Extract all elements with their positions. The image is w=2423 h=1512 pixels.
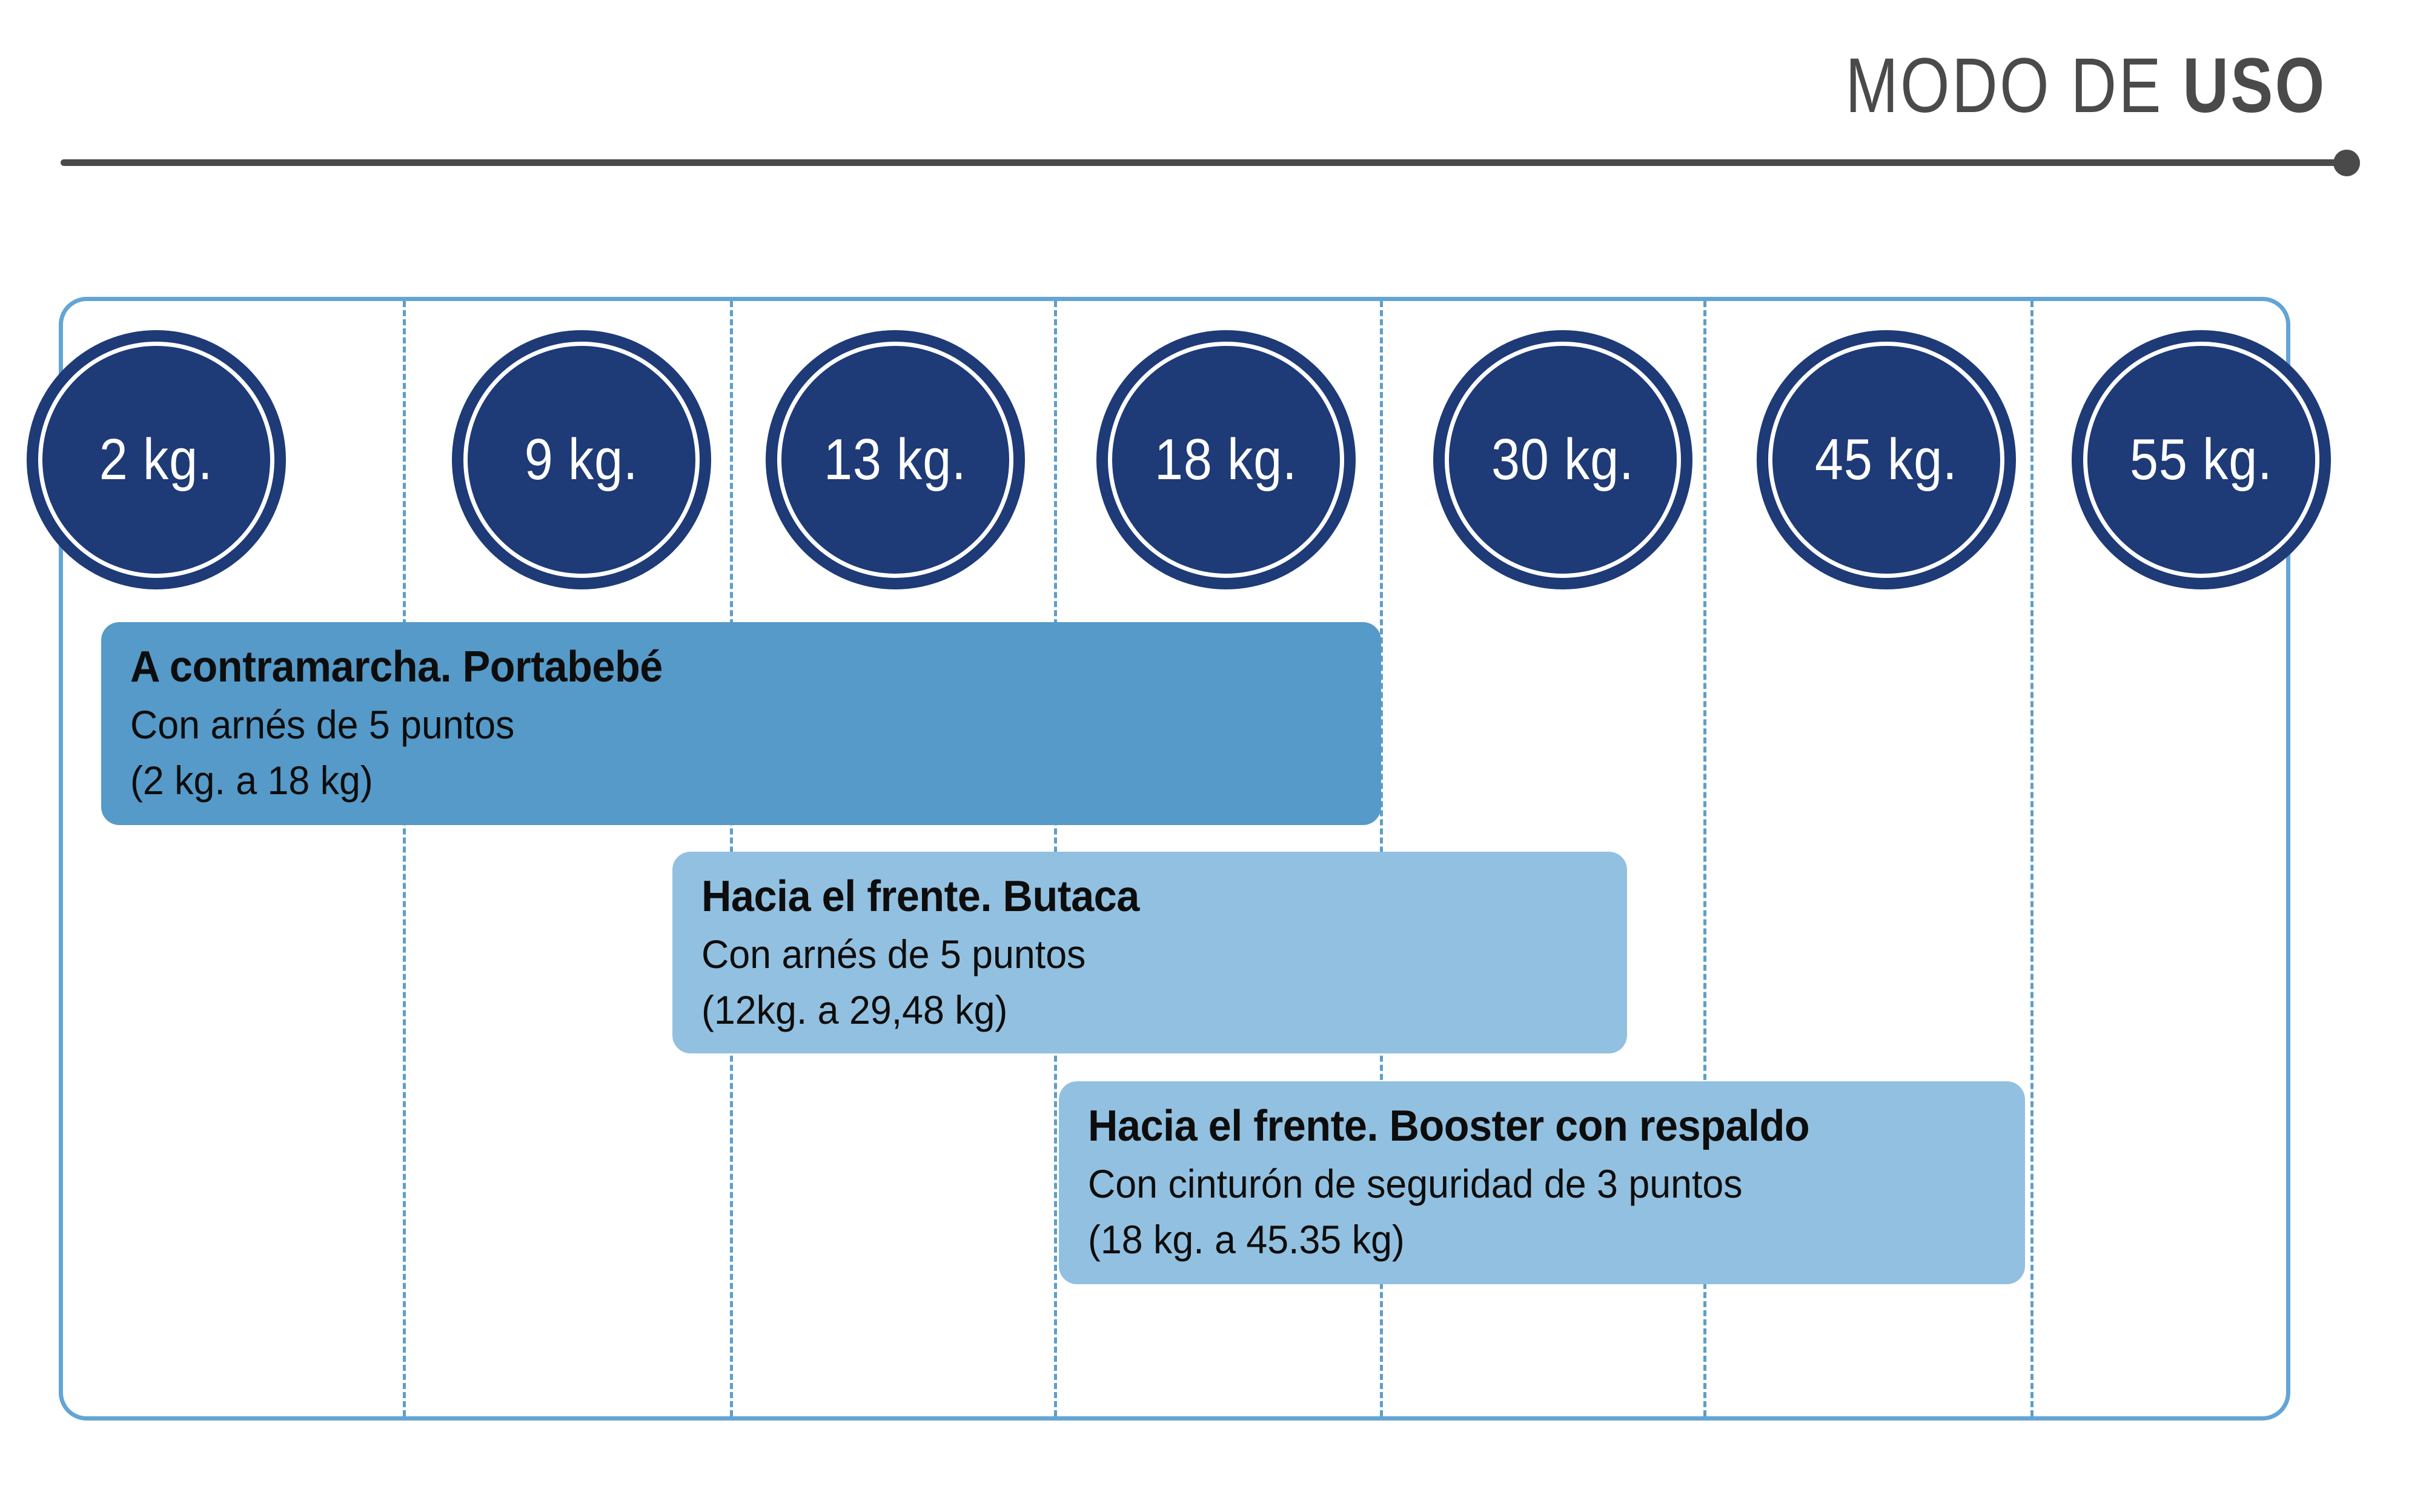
weight-circle-55kg[interactable]: 55 kg. bbox=[2072, 330, 2331, 589]
weight-circle-label: 9 kg. bbox=[525, 426, 638, 493]
weight-circle-13kg[interactable]: 13 kg. bbox=[766, 330, 1025, 589]
range-bar-title: Hacia el frente. Booster con respaldo bbox=[1088, 1102, 1978, 1151]
header-rule-end-dot bbox=[2333, 150, 2360, 176]
range-bar-range-label: (12kg. a 29,48 kg) bbox=[701, 987, 1581, 1034]
weight-circle-label: 2 kg. bbox=[99, 426, 213, 493]
weight-circle-label: 45 kg. bbox=[1815, 426, 1957, 493]
weight-circle-label: 30 kg. bbox=[1491, 426, 1634, 493]
weight-circle-30kg[interactable]: 30 kg. bbox=[1433, 330, 1692, 589]
range-bar-title: A contramarcha. Portabebé bbox=[130, 643, 1319, 692]
gridline-55kg bbox=[2030, 301, 2034, 1416]
page-title-bold: USO bbox=[2183, 42, 2326, 129]
gridline-9kg bbox=[403, 301, 406, 1416]
range-bar-subtitle: Con arnés de 5 puntos bbox=[701, 931, 1581, 978]
range-bar-subtitle: Con arnés de 5 puntos bbox=[130, 701, 1319, 749]
weight-circle-label: 13 kg. bbox=[824, 426, 966, 493]
weight-circle-9kg[interactable]: 9 kg. bbox=[452, 330, 711, 589]
range-bar-range-label: (18 kg. a 45.35 kg) bbox=[1088, 1216, 1978, 1264]
range-bar-portabebe[interactable]: A contramarcha. Portabebé Con arnés de 5… bbox=[101, 622, 1381, 825]
header-divider-rule bbox=[61, 159, 2352, 166]
page-title: MODO DE USO bbox=[1845, 47, 2326, 125]
page-title-light: MODO DE bbox=[1845, 42, 2183, 129]
range-bar-range-label: (2 kg. a 18 kg) bbox=[130, 757, 1319, 804]
weight-circle-label: 55 kg. bbox=[2130, 426, 2272, 493]
range-bar-title: Hacia el frente. Butaca bbox=[701, 872, 1581, 921]
weight-circle-2kg[interactable]: 2 kg. bbox=[27, 330, 286, 589]
range-bar-booster[interactable]: Hacia el frente. Booster con respaldo Co… bbox=[1059, 1081, 2025, 1284]
weight-circle-18kg[interactable]: 18 kg. bbox=[1096, 330, 1356, 589]
range-bar-butaca[interactable]: Hacia el frente. Butaca Con arnés de 5 p… bbox=[672, 852, 1627, 1053]
range-bar-subtitle: Con cinturón de seguridad de 3 puntos bbox=[1088, 1161, 1978, 1208]
weight-circle-45kg[interactable]: 45 kg. bbox=[1757, 330, 2016, 589]
page-header: MODO DE USO bbox=[0, 0, 2423, 200]
weight-circle-label: 18 kg. bbox=[1155, 426, 1297, 493]
